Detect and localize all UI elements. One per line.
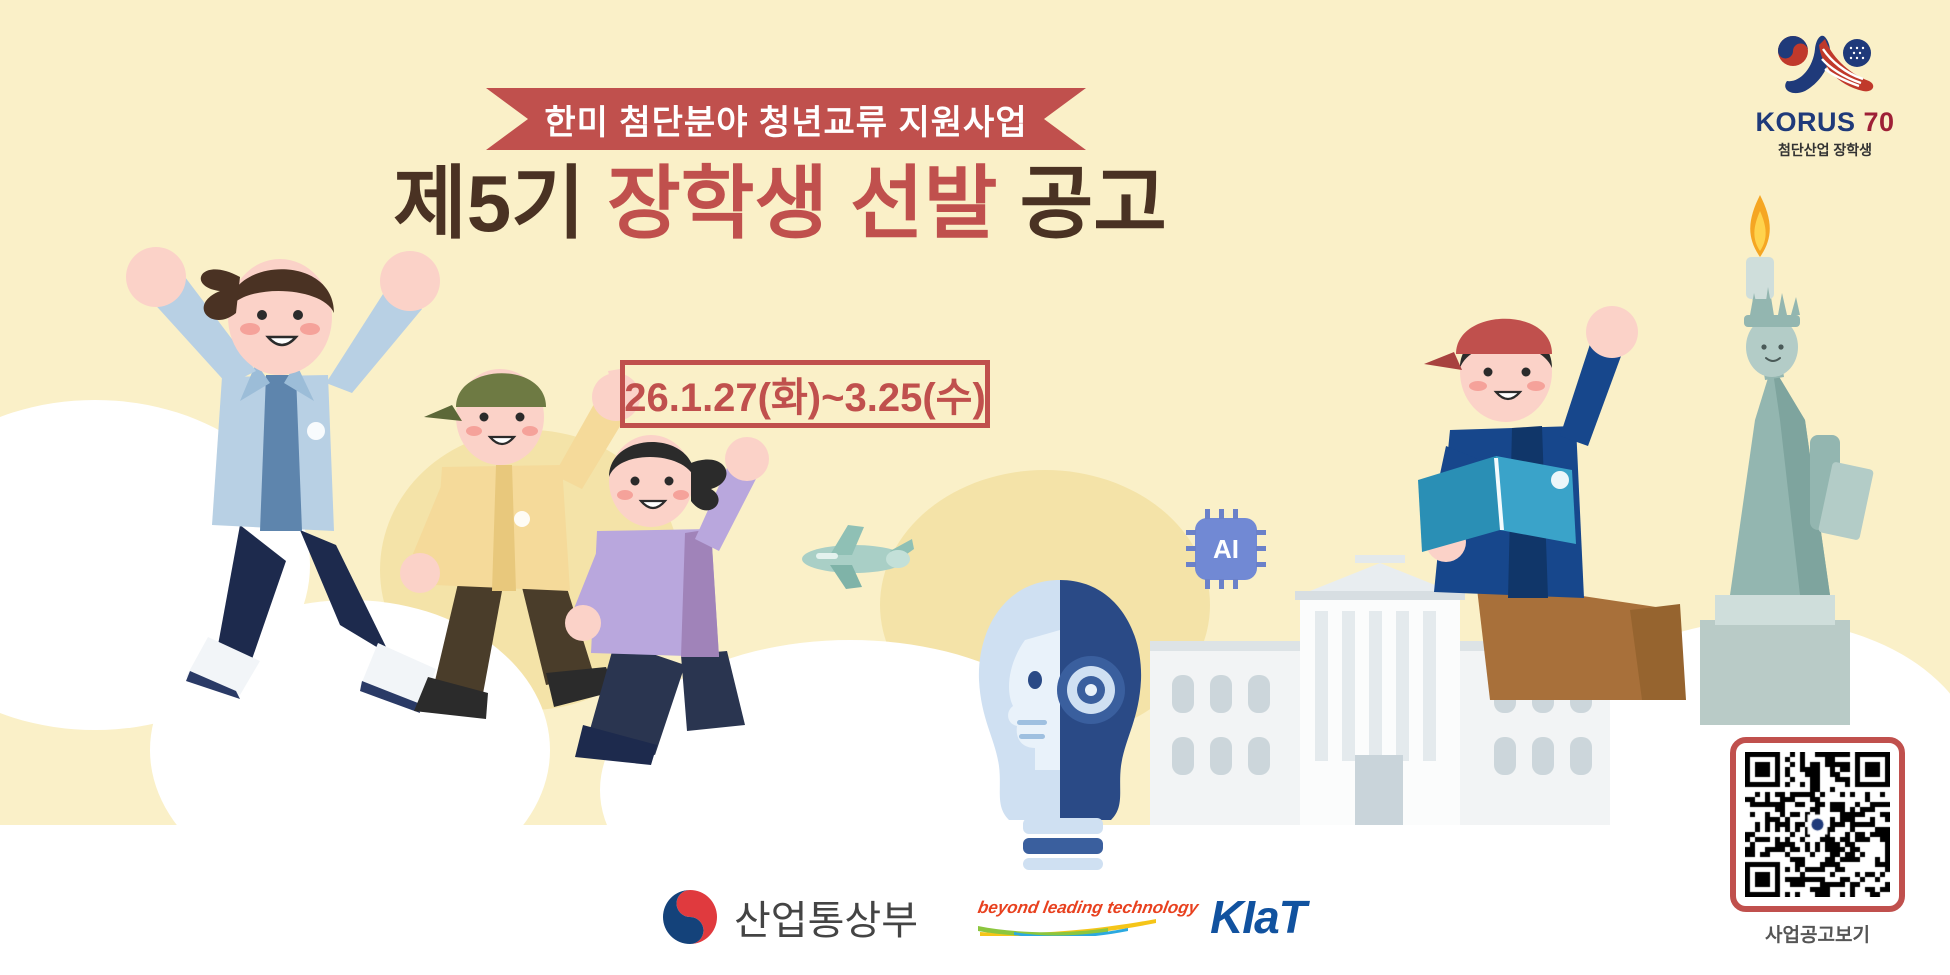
ribbon-banner: 한미 첨단분야 청년교류 지원사업 <box>486 88 1086 150</box>
ai-chip-icon: AI <box>1195 518 1257 580</box>
ai-chip-label: AI <box>1213 534 1239 565</box>
illustration-person-kneeling <box>535 415 825 800</box>
application-period-text: 26.1.27(화)~3.25(수) <box>624 365 986 423</box>
qr-code[interactable] <box>1745 752 1890 897</box>
kiat-logo: beyond leading technology KIaT <box>978 890 1306 944</box>
title-part-3: 공고 <box>1020 159 1167 248</box>
qr-frame[interactable] <box>1730 737 1905 912</box>
ribbon-label: 한미 첨단분야 청년교류 지원사업 <box>544 95 1027 144</box>
application-period-box: 26.1.27(화)~3.25(수) <box>620 360 990 428</box>
ministry-logo: 산업통상부 <box>660 887 918 947</box>
promotional-banner: AI <box>0 0 1950 975</box>
kiat-name: KIaT <box>1210 890 1306 944</box>
illustration-person-reading <box>1380 280 1720 785</box>
kiat-tagline: beyond leading technology <box>976 898 1200 918</box>
qr-block[interactable]: 사업공고보기 <box>1730 737 1905 947</box>
korus-wordmark: KORUS 70 <box>1730 107 1920 138</box>
footer-logo-row: 산업통상부 beyond leading technology KIaT <box>660 887 1306 947</box>
qr-label: 사업공고보기 <box>1730 920 1905 947</box>
korus-70-logo: KORUS 70 첨단산업 장학생 <box>1730 25 1920 160</box>
title-part-1: 제5기 <box>393 159 585 248</box>
taegeuk-icon <box>660 887 720 947</box>
korus-subtitle: 첨단산업 장학생 <box>1730 140 1920 160</box>
korus-word-number: 70 <box>1863 107 1894 137</box>
page-title: 제5기 장학생 선발 공고 <box>0 160 1560 248</box>
robot-head-icon <box>965 570 1155 875</box>
korus-word-text: KORUS <box>1755 107 1855 137</box>
kiat-swoosh-icon <box>978 918 1158 936</box>
korus-emblem-icon <box>1765 25 1885 105</box>
title-part-2: 장학생 선발 <box>607 159 997 248</box>
ministry-name: 산업통상부 <box>734 888 918 946</box>
